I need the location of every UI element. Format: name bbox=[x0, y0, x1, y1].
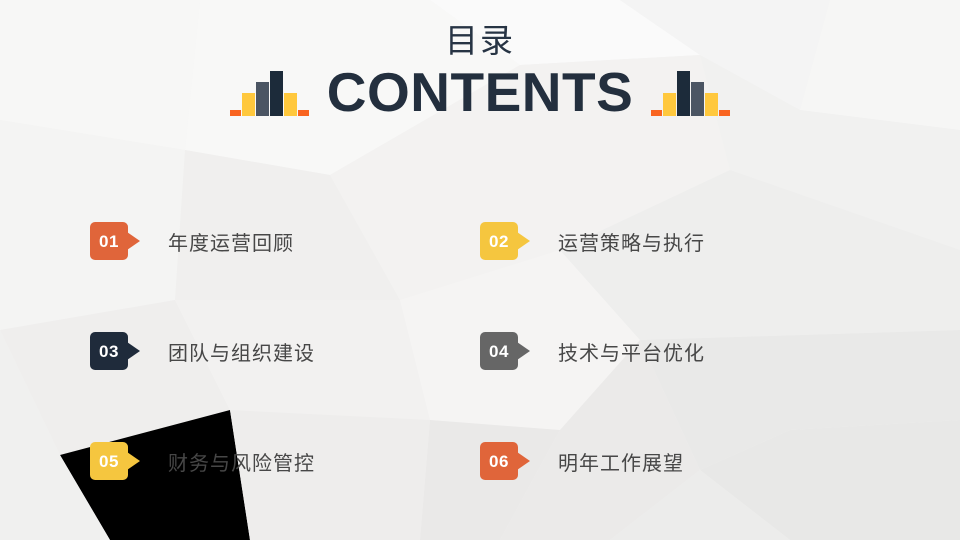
contents-number-badge[interactable]: 03 bbox=[90, 332, 128, 370]
contents-number: 06 bbox=[489, 453, 509, 470]
contents-item-label[interactable]: 明年工作展望 bbox=[558, 447, 684, 476]
contents-list: 01 年度运营回顾 02 运营策略与执行 03 团队与组织建设 bbox=[0, 186, 960, 516]
contents-item-02[interactable]: 02 运营策略与执行 bbox=[480, 186, 870, 296]
contents-number-badge[interactable]: 06 bbox=[480, 442, 518, 480]
contents-number-badge[interactable]: 02 bbox=[480, 222, 518, 260]
contents-number: 04 bbox=[489, 343, 509, 360]
contents-number: 02 bbox=[489, 233, 509, 250]
page-title-cn: 目录 bbox=[0, 0, 960, 61]
contents-item-03[interactable]: 03 团队与组织建设 bbox=[90, 296, 480, 406]
badge-pointer-icon bbox=[127, 232, 140, 250]
contents-item-label[interactable]: 年度运营回顾 bbox=[168, 227, 294, 256]
contents-number: 05 bbox=[99, 453, 119, 470]
page-title-en: CONTENTS bbox=[327, 65, 634, 120]
badge-pointer-icon bbox=[517, 342, 530, 360]
contents-number-badge[interactable]: 01 bbox=[90, 222, 128, 260]
ornament-bar bbox=[230, 110, 241, 116]
bar-chart-ornament-right bbox=[651, 70, 730, 116]
ornament-bar bbox=[663, 93, 676, 116]
contents-item-label[interactable]: 运营策略与执行 bbox=[558, 227, 705, 256]
contents-item-label[interactable]: 财务与风险管控 bbox=[168, 447, 315, 476]
ornament-bar bbox=[284, 93, 297, 116]
contents-number-badge[interactable]: 05 bbox=[90, 442, 128, 480]
ornament-bar bbox=[242, 93, 255, 116]
contents-number-badge[interactable]: 04 bbox=[480, 332, 518, 370]
ornament-bar bbox=[705, 93, 718, 116]
ornament-bar bbox=[719, 110, 730, 116]
badge-pointer-icon bbox=[127, 452, 140, 470]
contents-item-04[interactable]: 04 技术与平台优化 bbox=[480, 296, 870, 406]
slide-header: 目录 CONTENTS bbox=[0, 0, 960, 120]
bar-chart-ornament-left bbox=[230, 70, 309, 116]
badge-pointer-icon bbox=[517, 232, 530, 250]
slide-root: 目录 CONTENTS bbox=[0, 0, 960, 540]
badge-pointer-icon bbox=[517, 452, 530, 470]
title-row: CONTENTS bbox=[0, 65, 960, 120]
contents-item-06[interactable]: 06 明年工作展望 bbox=[480, 406, 870, 516]
contents-number: 03 bbox=[99, 343, 119, 360]
contents-number: 01 bbox=[99, 233, 119, 250]
contents-item-05[interactable]: 05 财务与风险管控 bbox=[90, 406, 480, 516]
ornament-bar bbox=[298, 110, 309, 116]
contents-item-01[interactable]: 01 年度运营回顾 bbox=[90, 186, 480, 296]
ornament-bar bbox=[651, 110, 662, 116]
ornament-bar bbox=[256, 82, 269, 116]
ornament-bar bbox=[270, 71, 283, 116]
ornament-bar bbox=[677, 71, 690, 116]
contents-item-label[interactable]: 技术与平台优化 bbox=[558, 337, 705, 366]
ornament-bar bbox=[691, 82, 704, 116]
badge-pointer-icon bbox=[127, 342, 140, 360]
contents-item-label[interactable]: 团队与组织建设 bbox=[168, 337, 315, 366]
